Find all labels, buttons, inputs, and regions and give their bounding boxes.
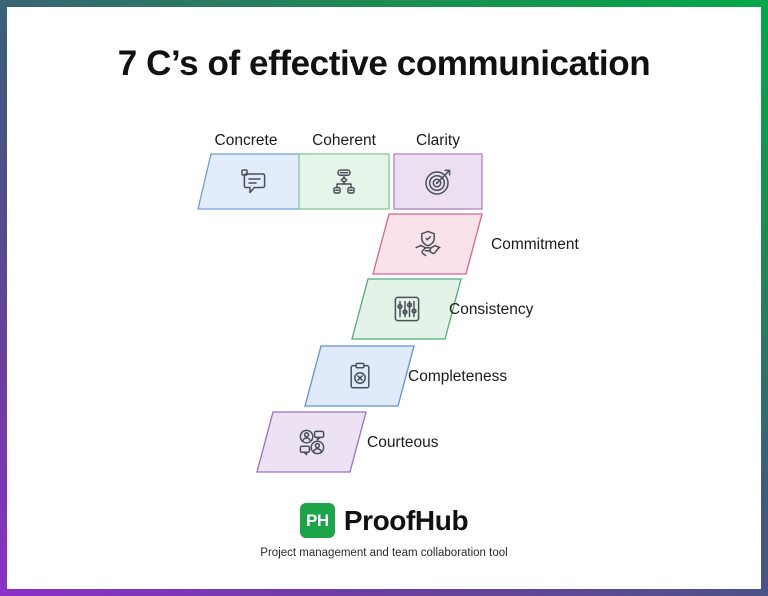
- seven-cs-diagram: ConcreteCoherentClarityCommitmentConsist…: [7, 7, 761, 589]
- speech-bubble-icon: [238, 167, 268, 197]
- step-label-coherent: Coherent: [298, 132, 390, 150]
- step-label-consistency: Consistency: [449, 301, 533, 319]
- proofhub-brand-name: ProofHub: [344, 505, 468, 537]
- people-chat-icon: [297, 427, 327, 457]
- infographic-card: 7 C’s of effective communication Concret…: [0, 0, 768, 596]
- hierarchy-flow-icon: [329, 167, 359, 197]
- proofhub-logo-mark: PH: [300, 503, 335, 538]
- target-arrow-icon: [423, 167, 453, 197]
- sliders-equalizer-icon: [392, 294, 422, 324]
- proofhub-tagline: Project management and team collaboratio…: [7, 547, 761, 559]
- step-label-concrete: Concrete: [200, 132, 292, 150]
- clipboard-check-icon: [345, 361, 375, 391]
- step-label-courteous: Courteous: [367, 434, 439, 452]
- step-label-clarity: Clarity: [394, 132, 482, 150]
- footer-branding: PH ProofHub Project management and team …: [7, 503, 761, 559]
- step-label-completeness: Completeness: [408, 368, 507, 386]
- handshake-shield-icon: [413, 229, 443, 259]
- proofhub-logo: PH ProofHub: [7, 503, 761, 538]
- step-label-commitment: Commitment: [491, 236, 579, 254]
- infographic-canvas: 7 C’s of effective communication Concret…: [7, 7, 761, 589]
